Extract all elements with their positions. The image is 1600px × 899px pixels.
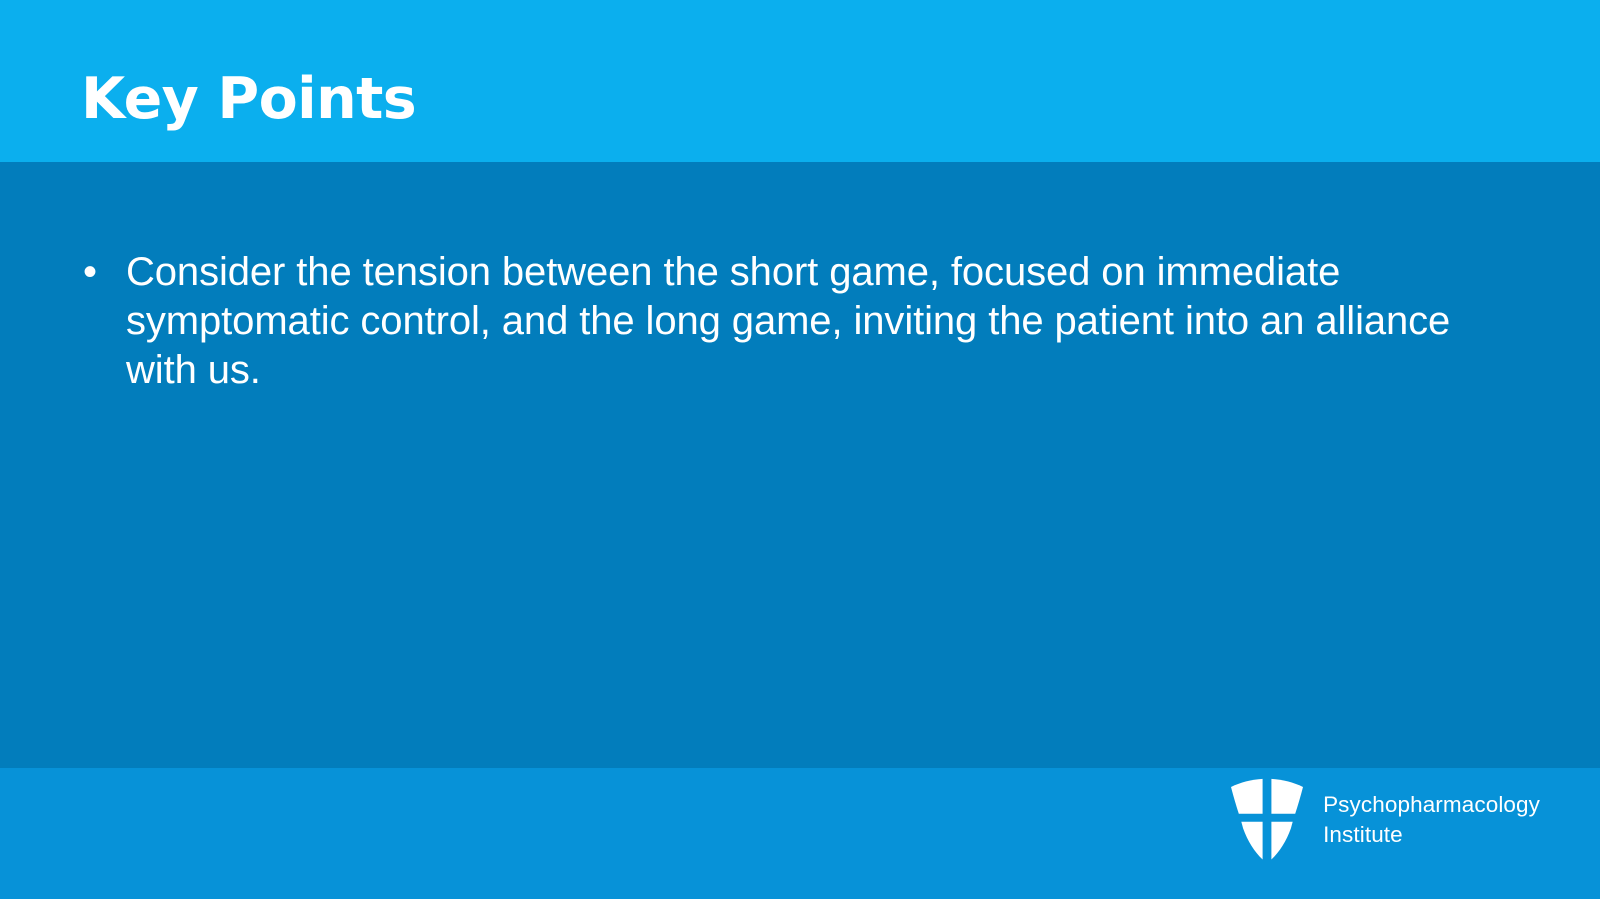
brand-wordmark: Psychopharmacology Institute (1323, 790, 1540, 850)
bullet-item-text: Consider the tension between the short g… (126, 248, 1471, 395)
slide-footer-band: Psychopharmacology Institute (0, 768, 1600, 899)
slide-header-band: Key Points (0, 0, 1600, 162)
shield-quadrant-icon (1228, 775, 1306, 865)
brand-name-line-1: Psychopharmacology (1323, 790, 1540, 820)
bullet-point-icon: • (83, 248, 105, 297)
bullet-list: • Consider the tension between the short… (0, 248, 1600, 395)
page-title: Key Points (81, 68, 416, 132)
brand-lockup: Psychopharmacology Institute (1228, 775, 1540, 865)
brand-name-line-2: Institute (1323, 820, 1540, 850)
presentation-slide: Key Points • Consider the tension betwee… (0, 0, 1600, 899)
list-item: • Consider the tension between the short… (0, 248, 1600, 395)
slide-body-band: • Consider the tension between the short… (0, 162, 1600, 768)
